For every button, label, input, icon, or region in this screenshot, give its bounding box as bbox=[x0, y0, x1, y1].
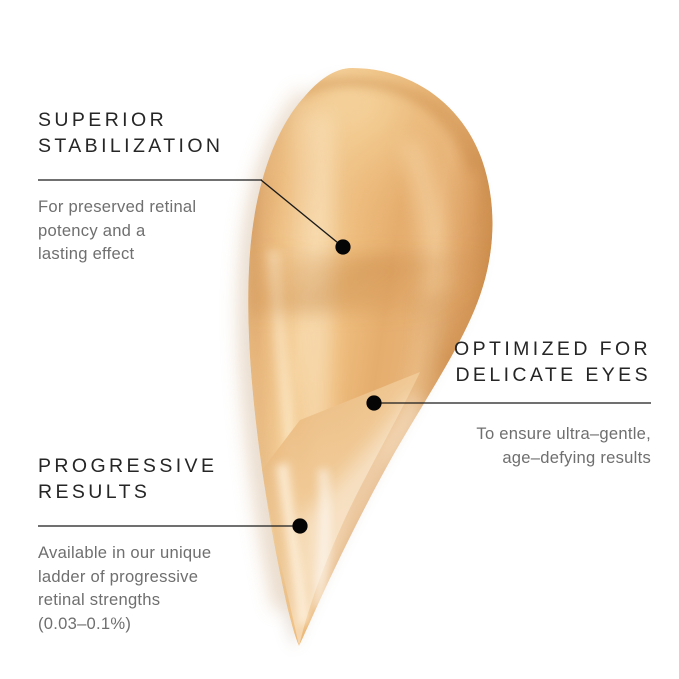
callout-superior-heading: SUPERIOR STABILIZATION bbox=[38, 108, 298, 159]
callout-progressive-heading: PROGRESSIVE RESULTS bbox=[38, 454, 298, 505]
callout-superior-stabilization: SUPERIOR STABILIZATION For preserved ret… bbox=[38, 108, 298, 266]
callout-optimized-body: To ensure ultra–gentle, age–defying resu… bbox=[371, 422, 651, 469]
infographic-canvas: SUPERIOR STABILIZATION For preserved ret… bbox=[0, 0, 679, 679]
callout-optimized-heading: OPTIMIZED FOR DELICATE EYES bbox=[371, 337, 651, 388]
callout-progressive-body: Available in our unique ladder of progre… bbox=[38, 541, 298, 635]
callout-superior-body: For preserved retinal potency and a last… bbox=[38, 195, 298, 266]
callout-optimized-for-delicate-eyes: OPTIMIZED FOR DELICATE EYES To ensure ul… bbox=[371, 337, 651, 469]
dot-superior bbox=[335, 239, 350, 254]
callout-progressive-results: PROGRESSIVE RESULTS Available in our uni… bbox=[38, 454, 298, 635]
